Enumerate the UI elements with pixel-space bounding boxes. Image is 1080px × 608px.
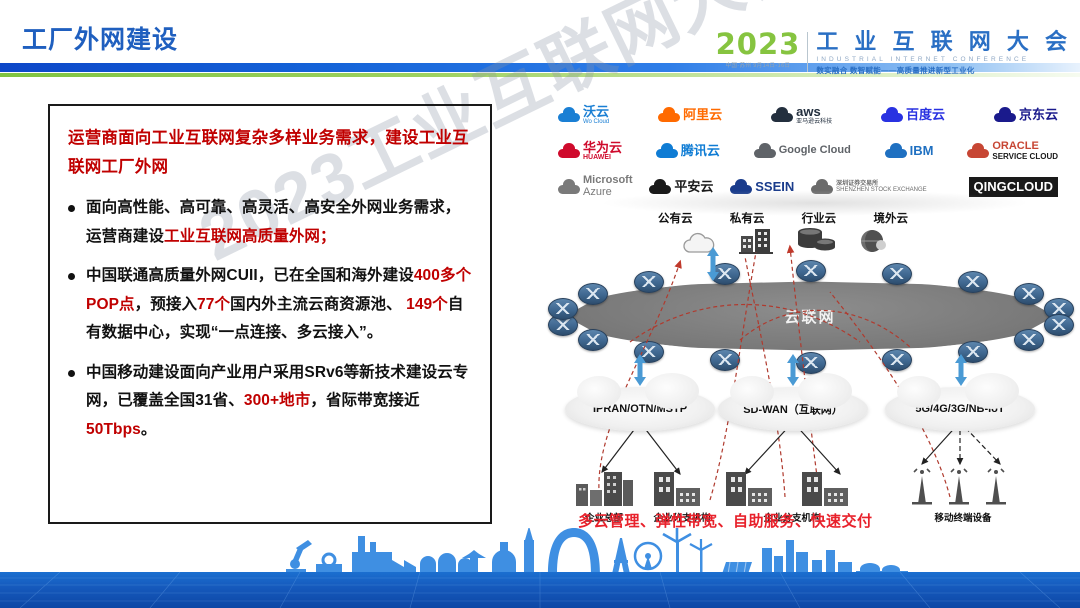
cloud-net-shadow xyxy=(600,190,1030,216)
bullet-1-segment-4: 国内外主流云商资源池、 xyxy=(230,296,406,313)
google-cloud-icon xyxy=(754,144,776,158)
conference-logo: 2023 中国·苏州 9月14日-16日 工 业 互 联 网 大 会 INDUS… xyxy=(716,30,1072,78)
access-cloud-sdwan: SD-WAN（互联网） xyxy=(718,387,868,431)
enterprise-hq-icon xyxy=(574,470,636,506)
vendor-logo-ibm-cloud-icon: IBM xyxy=(885,136,934,166)
alibaba-cloud-icon xyxy=(658,108,680,122)
router-node xyxy=(710,349,740,371)
bullet-item-0: 面向高性能、高可靠、高灵活、高安全外网业务需求，运营商建设工业互联网高质量外网； xyxy=(68,194,474,251)
logo-name-en: INDUSTRIAL INTERNET CONFERENCE xyxy=(816,56,1072,63)
vendor-text-2-0: MicrosoftAzure xyxy=(583,175,633,198)
blue-double-arrow-top xyxy=(706,247,720,286)
enterprise-branch-icon-1 xyxy=(650,470,712,506)
page-title: 工厂外网建设 xyxy=(22,20,178,56)
vendor-name: Google Cloud xyxy=(779,145,851,157)
vendor-row-0: 沃云Wo Cloud阿里云aws亚马逊云科技百度云京东云 xyxy=(558,98,1058,132)
aws-icon xyxy=(771,108,793,122)
bullet-2-segment-3: 50Tbps xyxy=(86,421,141,438)
bullet-2-segment-4: 。 xyxy=(141,421,157,438)
vendor-name: 百度云 xyxy=(906,108,945,122)
globe-icon xyxy=(859,228,887,259)
vendor-text-1-0: 华为云HUAWEI xyxy=(583,141,622,162)
router-node xyxy=(1044,314,1074,336)
vendor-name: 沃云 xyxy=(583,105,609,119)
vendor-text-1-4: ORACLESERVICE CLOUD xyxy=(992,141,1058,161)
footer-grid-pattern xyxy=(0,572,1080,608)
bullet-dot-icon xyxy=(68,205,75,212)
jd-cloud-icon xyxy=(994,108,1016,122)
vendor-logo-cloud-icon: 沃云Wo Cloud xyxy=(558,100,609,130)
router-node xyxy=(1014,329,1044,351)
vendor-subtitle: 亚马逊云科技 xyxy=(796,119,832,125)
router-node xyxy=(882,263,912,285)
vendor-logo-google-cloud-icon: Google Cloud xyxy=(754,136,851,166)
enterprise-branch-icon-2 xyxy=(722,470,784,506)
vendor-text-0-3: 百度云 xyxy=(906,108,945,122)
vendor-logo-jd-cloud-icon: 京东云 xyxy=(994,100,1058,130)
router-node xyxy=(796,352,826,374)
logo-name-cn: 工 业 互 联 网 大 会 xyxy=(816,30,1072,54)
access-cloud-label-1: SD-WAN（互联网） xyxy=(743,401,843,417)
bullet-2-segment-2: ，省际带宽接近 xyxy=(310,392,419,409)
vendor-name: 阿里云 xyxy=(683,108,722,122)
bullet-1-segment-0: 中国联通高质量外网CUII，已在全国和海外建设 xyxy=(86,267,414,284)
vendor-text-0-2: aws亚马逊云科技 xyxy=(796,105,832,125)
content-text-box: 运营商面向工业互联网复杂多样业务需求，建设工业互联网工厂外网 面向高性能、高可靠… xyxy=(48,104,492,524)
vendor-text-0-4: 京东云 xyxy=(1019,108,1058,122)
router-node xyxy=(796,260,826,282)
vendor-logo-aws-icon: aws亚马逊云科技 xyxy=(771,100,832,130)
access-cloud-mobile: 5G/4G/3G/NB-IoT xyxy=(885,387,1035,431)
logo-year: 2023 xyxy=(716,30,801,59)
bullet-2-segment-1: 300+地市 xyxy=(244,392,311,409)
vendor-logo-oracle-icon: ORACLESERVICE CLOUD xyxy=(967,136,1058,166)
bullet-1-segment-5: 149个 xyxy=(406,296,448,313)
router-node xyxy=(1014,283,1044,305)
lead-paragraph: 运营商面向工业互联网复杂多样业务需求，建设工业互联网工厂外网 xyxy=(68,124,474,182)
city-skyline-graphic xyxy=(0,528,1080,578)
bullet-text-2: 中国移动建设面向产业用户采用SRv6等新技术建设云专网，已覆盖全国31省、300… xyxy=(86,359,474,445)
vendor-text-0-1: 阿里云 xyxy=(683,108,722,122)
router-node xyxy=(548,298,578,320)
vendor-logo-huawei-icon: 华为云HUAWEI xyxy=(558,136,622,166)
site-label-3: 移动终端设备 xyxy=(923,510,1003,524)
access-cloud-label-2: 5G/4G/3G/NB-IoT xyxy=(915,403,1004,415)
bullet-1-segment-3: 77个 xyxy=(197,296,230,313)
vendor-row-1: 华为云HUAWEI腾讯云Google CloudIBMORACLESERVICE… xyxy=(558,134,1058,168)
logo-date: 中国·苏州 9月14日-16日 xyxy=(725,61,790,69)
bullet-1-segment-2: ，预接入 xyxy=(135,296,197,313)
vendor-name: aws xyxy=(796,105,832,119)
oracle-icon xyxy=(967,144,989,158)
bullet-0-segment-1: 工业互联网高质量外网； xyxy=(164,228,336,245)
tencent-cloud-icon xyxy=(656,144,678,158)
vendor-logo-alibaba-cloud-icon: 阿里云 xyxy=(658,100,722,130)
slide-footer xyxy=(0,528,1080,608)
vendor-subtitle: HUAWEI xyxy=(583,154,622,161)
vendor-text-1-3: IBM xyxy=(910,144,934,158)
huawei-icon xyxy=(558,144,580,158)
logo-text-block: 工 业 互 联 网 大 会 INDUSTRIAL INTERNET CONFER… xyxy=(808,30,1072,76)
vendor-text-0-0: 沃云Wo Cloud xyxy=(583,105,609,125)
enterprise-branch-icon-3 xyxy=(798,470,860,506)
router-node xyxy=(578,329,608,351)
router-node xyxy=(958,271,988,293)
ibm-cloud-icon xyxy=(885,144,907,158)
vendor-name: 华为云 xyxy=(583,141,622,155)
vendor-text-1-1: 腾讯云 xyxy=(681,144,720,158)
vendor-subtitle: Wo Cloud xyxy=(583,119,609,125)
microsoft-azure-icon xyxy=(558,180,580,194)
bullet-item-1: 中国联通高质量外网CUII，已在全国和海外建设400多个POP点，预接入77个国… xyxy=(68,262,474,348)
vendor-text-1-2: Google Cloud xyxy=(779,145,851,157)
router-node xyxy=(578,283,608,305)
network-architecture-diagram: 沃云Wo Cloud阿里云aws亚马逊云科技百度云京东云华为云HUAWEI腾讯云… xyxy=(530,92,1080,542)
baidu-cloud-icon xyxy=(881,108,903,122)
vendor-subtitle: SERVICE CLOUD xyxy=(992,153,1058,161)
building-icon xyxy=(739,228,773,259)
mobile-base-station-icons xyxy=(908,464,1018,506)
bullet-list: 面向高性能、高可靠、高灵活、高安全外网业务需求，运营商建设工业互联网高质量外网；… xyxy=(68,194,474,444)
router-node xyxy=(634,271,664,293)
bullet-text-0: 面向高性能、高可靠、高灵活、高安全外网业务需求，运营商建设工业互联网高质量外网； xyxy=(86,194,474,251)
bullet-dot-icon xyxy=(68,273,75,280)
cloud-icon xyxy=(558,108,580,122)
router-node xyxy=(882,349,912,371)
pingan-cloud-icon xyxy=(649,180,671,194)
database-icon xyxy=(796,228,836,259)
vendor-name: 京东云 xyxy=(1019,108,1058,122)
bullet-item-2: 中国移动建设面向产业用户采用SRv6等新技术建设云专网，已覆盖全国31省、300… xyxy=(68,359,474,445)
slide-header: 工厂外网建设 2023 中国·苏州 9月14日-16日 工 业 互 联 网 大 … xyxy=(0,0,1080,80)
vendor-name: 腾讯云 xyxy=(681,144,720,158)
access-cloud-label-0: IPRAN/OTN/MSTP xyxy=(593,403,687,415)
vendor-logo-baidu-cloud-icon: 百度云 xyxy=(881,100,945,130)
vendor-name: ORACLE xyxy=(992,141,1058,153)
footer-base-band xyxy=(0,572,1080,608)
bullet-dot-icon xyxy=(68,370,75,377)
logo-year-block: 2023 中国·苏州 9月14日-16日 xyxy=(716,30,808,69)
bullet-text-1: 中国联通高质量外网CUII，已在全国和海外建设400多个POP点，预接入77个国… xyxy=(86,262,474,348)
vendor-name: QINGCLOUD xyxy=(974,180,1053,194)
logo-slogan: 数实融合 数智赋能——高质量推进新型工业化 xyxy=(816,65,1072,76)
vendor-logo-tencent-cloud-icon: 腾讯云 xyxy=(656,136,720,166)
vendor-name: IBM xyxy=(910,144,934,158)
access-cloud-ipran: IPRAN/OTN/MSTP xyxy=(565,387,715,431)
